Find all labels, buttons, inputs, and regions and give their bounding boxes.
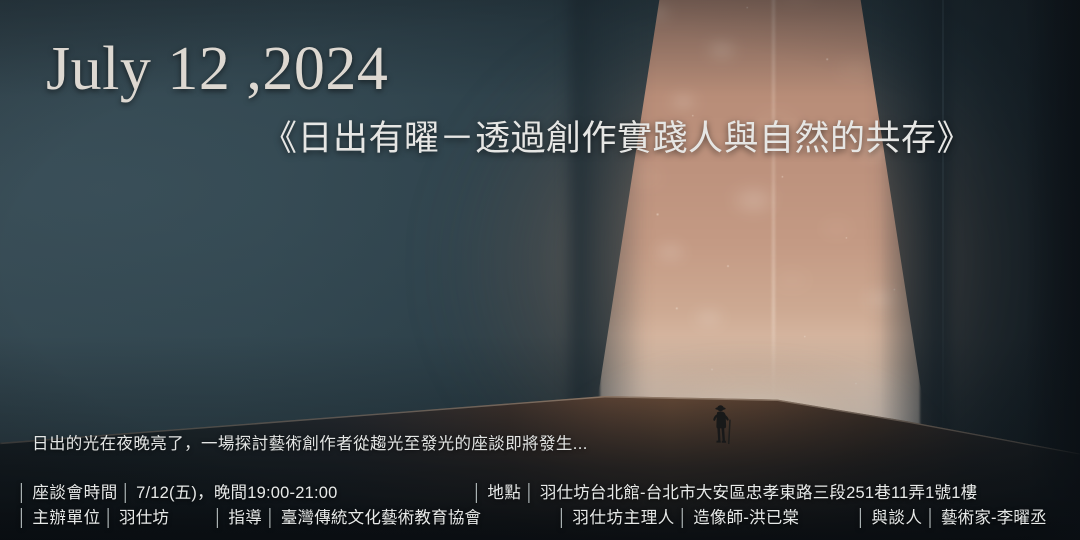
detail-time: │座談會時間│7/12(五)，晚間19:00-21:00	[14, 481, 338, 506]
separator-bar: │	[263, 509, 281, 527]
separator-bar: │	[675, 509, 693, 527]
separator-bar: │	[923, 509, 941, 527]
detail-organizer-label: 主辦單位	[32, 509, 100, 527]
event-date: July 12 ,2024	[46, 38, 388, 100]
detail-time-value: 7/12(五)，晚間19:00-21:00	[136, 484, 337, 502]
separator-bar: │	[210, 509, 228, 527]
detail-host-value: 造像師-洪已棠	[693, 509, 799, 527]
separator-bar: │	[554, 509, 572, 527]
event-poster: July 12 ,2024 《日出有曜－透過創作實踐人與自然的共存》 日出的光在…	[0, 0, 1080, 540]
tagline: 日出的光在夜晚亮了，一場探討藝術創作者從趨光至發光的座談即將發生...	[32, 435, 588, 455]
separator-bar: │	[469, 484, 487, 502]
detail-advisor-label: 指導	[228, 509, 262, 527]
separator-bar: │	[14, 509, 32, 527]
info-row-organizers: │主辦單位│羽仕坊 │指導│臺灣傳統文化藝術教育協會 │羽仕坊主理人│造像師-洪…	[14, 506, 1070, 531]
detail-speaker: │與談人│藝術家-李曜丞	[853, 506, 1047, 531]
info-row-time-location: │座談會時間│7/12(五)，晚間19:00-21:00 │地點│羽仕坊台北館-…	[14, 481, 1070, 506]
detail-location-label: 地點	[487, 484, 521, 502]
detail-advisor-value: 臺灣傳統文化藝術教育協會	[281, 509, 481, 527]
separator-bar: │	[14, 484, 32, 502]
detail-location-value: 羽仕坊台北館-台北市大安區忠孝東路三段251巷11弄1號1樓	[540, 484, 978, 502]
detail-organizer: │主辦單位│羽仕坊	[14, 506, 169, 531]
separator-bar: │	[101, 509, 119, 527]
detail-speaker-label: 與談人	[871, 509, 922, 527]
separator-bar: │	[853, 509, 871, 527]
right-edge-shadow	[1026, 0, 1080, 540]
page-title: 《日出有曜－透過創作實踐人與自然的共存》	[262, 120, 972, 159]
detail-advisor: │指導│臺灣傳統文化藝術教育協會	[210, 506, 481, 531]
detail-host: │羽仕坊主理人│造像師-洪已棠	[554, 506, 799, 531]
detail-location: │地點│羽仕坊台北館-台北市大安區忠孝東路三段251巷11弄1號1樓	[469, 481, 977, 506]
detail-speaker-value: 藝術家-李曜丞	[941, 509, 1047, 527]
separator-bar: │	[118, 484, 136, 502]
detail-host-label: 羽仕坊主理人	[572, 509, 675, 527]
detail-organizer-value: 羽仕坊	[119, 509, 169, 527]
separator-bar: │	[522, 484, 540, 502]
detail-time-label: 座談會時間	[32, 484, 118, 502]
event-details: │座談會時間│7/12(五)，晚間19:00-21:00 │地點│羽仕坊台北館-…	[14, 481, 1070, 531]
